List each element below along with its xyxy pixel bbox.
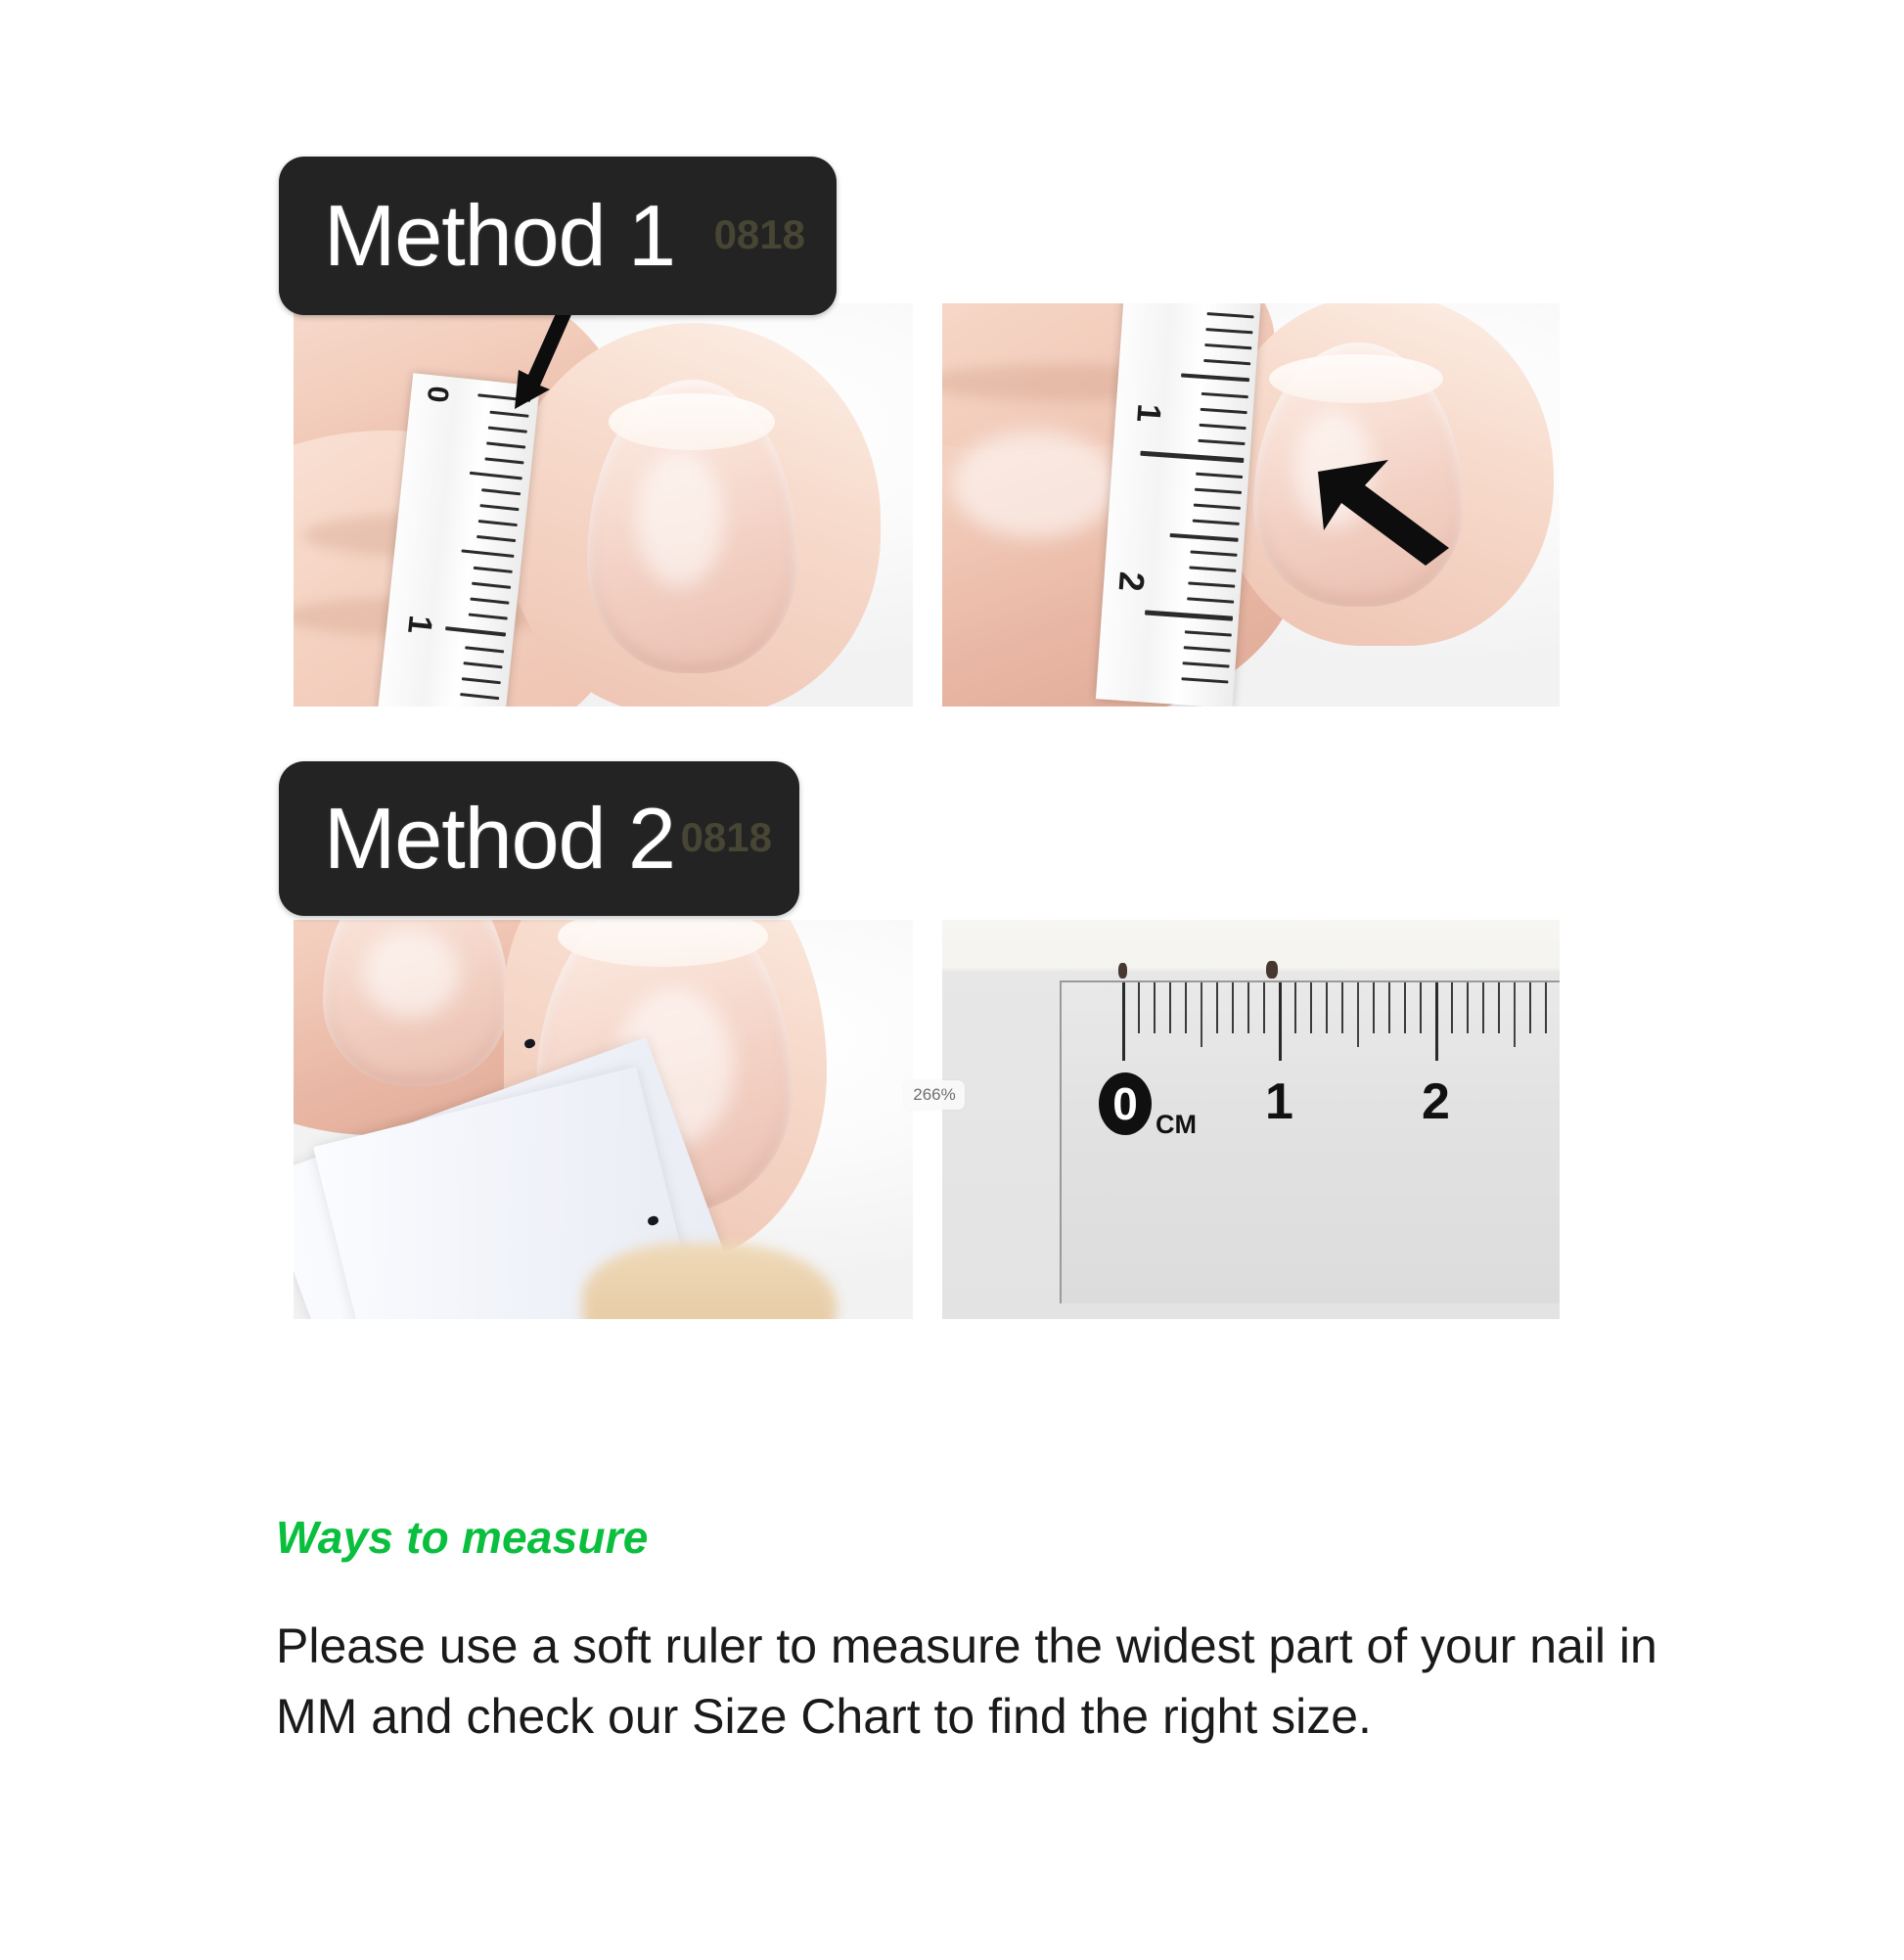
nail-tip-2 [1269, 354, 1443, 403]
tape-measure-2: 1 2 [1096, 303, 1261, 707]
finger-highlight-2 [952, 431, 1118, 538]
zoom-level-value: 266% [913, 1085, 955, 1105]
ruler-zero-marker: 0 [1099, 1072, 1152, 1135]
method-2-photo-right: 0 CM 1 2 3 [942, 920, 1560, 1319]
nail-tip-1 [609, 393, 775, 450]
ways-to-measure-heading: Ways to measure [276, 1515, 1665, 1560]
page-root: 0 1 [0, 0, 1904, 1960]
method-1-watermark: 0818 [714, 211, 805, 258]
plastic-ruler: 0 CM 1 2 3 [1060, 980, 1560, 1303]
instructions-block: Ways to measure Please use a soft ruler … [276, 1515, 1665, 1752]
ruler-pen-mark-start [1118, 963, 1127, 979]
method-2-banner: Method 2 0818 [279, 761, 799, 916]
method-2-photo-left [294, 920, 913, 1319]
method-2-watermark: 0818 [681, 814, 772, 861]
ruler-unit-label: CM [1156, 1112, 1197, 1138]
method-1-banner: Method 1 0818 [279, 157, 837, 315]
tape-number-two-2: 2 [1113, 570, 1150, 592]
ruler-tick-label-2: 2 [1422, 1076, 1450, 1127]
tape-number-one-2: 1 [1131, 403, 1165, 424]
zoom-level-badge[interactable]: 266% [904, 1080, 965, 1110]
method-1-banner-label: Method 1 [279, 186, 675, 286]
pointer-arrow-2 [1312, 450, 1469, 568]
holding-nail-highlight-3 [362, 930, 460, 1018]
tape-number-one-1: 1 [402, 614, 437, 635]
nail-highlight-1 [636, 450, 724, 587]
measure-instructions-text: Please use a soft ruler to measure the w… [276, 1611, 1665, 1752]
method-1-photo-left: 0 1 [294, 303, 913, 707]
method-2-banner-label: Method 2 [279, 789, 675, 889]
method-1-photo-right: 1 2 [942, 303, 1560, 707]
ruler-tick-label-1: 1 [1265, 1076, 1293, 1127]
tape-number-zero-1: 0 [422, 385, 453, 404]
pointer-arrow-1 [476, 303, 593, 411]
ruler-pen-mark-end [1266, 961, 1278, 979]
tape-ticks-2 [1096, 303, 1261, 707]
